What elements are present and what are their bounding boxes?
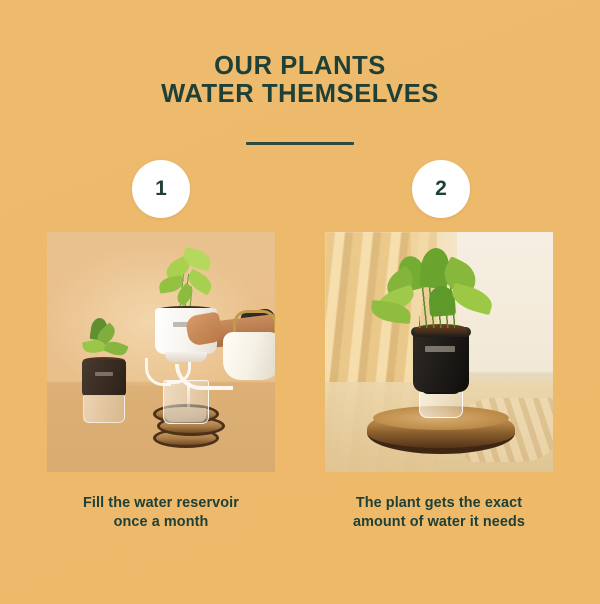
title-line-1: OUR PLANTS bbox=[214, 52, 386, 80]
dark-self-watering-pot bbox=[82, 360, 126, 396]
step-2-photo bbox=[325, 232, 553, 472]
measuring-glass-water bbox=[166, 408, 206, 422]
dark-pot-water-reservoir bbox=[83, 395, 125, 423]
step-2-caption: The plant gets the exact amount of water… bbox=[316, 494, 562, 532]
step-badge-1: 1 bbox=[132, 160, 190, 218]
pot-water-reservoir bbox=[419, 390, 463, 418]
step-1-caption-line-2: once a month bbox=[38, 513, 284, 532]
black-pot-brand-label bbox=[425, 346, 455, 352]
step-1-caption-line-1: Fill the water reservoir bbox=[83, 495, 239, 511]
step-1-photo bbox=[47, 232, 275, 472]
water-stream bbox=[187, 382, 190, 408]
step-badge-2-number: 2 bbox=[435, 177, 447, 201]
step-2-caption-line-2: amount of water it needs bbox=[316, 513, 562, 532]
title-divider bbox=[246, 142, 354, 145]
step-badge-1-number: 1 bbox=[155, 177, 167, 201]
step-2-caption-line-1: The plant gets the exact bbox=[356, 495, 522, 511]
step-1-caption: Fill the water reservoir once a month bbox=[38, 494, 284, 532]
white-pot-base bbox=[165, 352, 207, 362]
page-title: OUR PLANTS WATER THEMSELVES bbox=[0, 52, 600, 108]
promo-poster: OUR PLANTS WATER THEMSELVES 1 2 bbox=[0, 0, 600, 604]
title-line-2: WATER THEMSELVES bbox=[0, 80, 600, 108]
dark-pot-brand-label bbox=[95, 372, 113, 376]
black-self-watering-pot bbox=[413, 330, 469, 392]
step-badge-2: 2 bbox=[412, 160, 470, 218]
